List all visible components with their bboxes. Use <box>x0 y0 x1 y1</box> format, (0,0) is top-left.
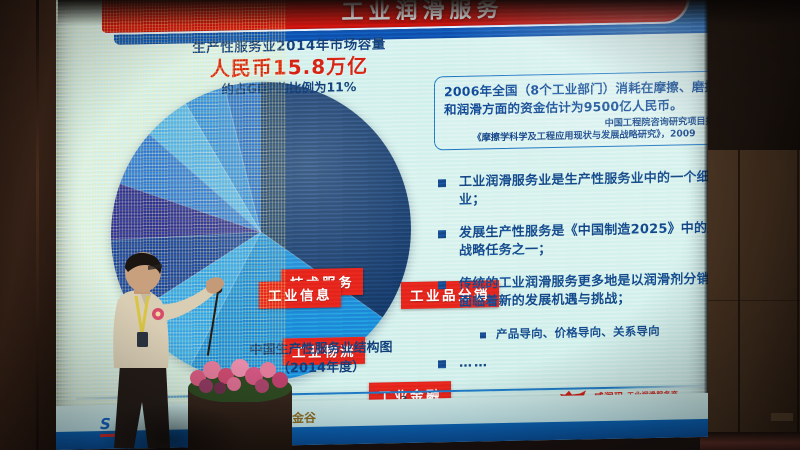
bullet-item: 传统的工业润滑服务更多地是以润滑剂分销为主面临着新的发展机遇与挑战； <box>438 270 708 313</box>
floor-strip <box>700 432 800 450</box>
citation-line1: 中国工程院咨询研究项目报告 <box>605 115 708 128</box>
bullet-list: 工业润滑服务业是生产性服务业中的一个细分行业； 发展生产性服务是《中国制造202… <box>438 168 708 388</box>
headline-line2: 人民币15.8万亿 <box>164 54 414 83</box>
info-box-citation: 中国工程院咨询研究项目报告 《摩擦学科学及工程应用现状与发展战略研究》，2009 <box>444 115 708 145</box>
right-wall-panels <box>704 150 800 435</box>
bullet-text: 发展生产性服务是《中国制造2025》中的八大战略任务之一； <box>459 219 708 262</box>
bullet-square-icon <box>438 179 446 187</box>
bullet-square-icon <box>480 332 486 338</box>
info-box-text: 2006年全国（8个工业部门）消耗在摩擦、磨损和润滑方面的资金估计为9500亿人… <box>444 78 708 119</box>
bullet-sub-item: 产品导向、价格导向、关系导向 <box>480 321 708 343</box>
headline-block: 生产性服务业2014年市场容量 人民币15.8万亿 约占GDP的比例为11% <box>164 37 414 98</box>
bullet-text: 传统的工业润滑服务更多地是以润滑剂分销为主面临着新的发展机遇与挑战； <box>459 270 708 313</box>
citation-line2: 《摩擦学科学及工程应用现状与发展战略研究》，2009 <box>444 128 708 146</box>
bullet-square-icon <box>438 230 446 238</box>
right-wall-upper <box>704 0 800 152</box>
bullet-item: 发展生产性服务是《中国制造2025》中的八大战略任务之一； <box>438 219 708 262</box>
photo-scene: S 嘉益 金谷 工业润滑服务 生产性服务业2014年市场容量 人民币15.8万亿… <box>0 0 800 450</box>
bullet-item: 工业润滑服务业是生产性服务业中的一个细分行业； <box>438 168 708 211</box>
bullet-item: …… <box>438 349 708 373</box>
info-box: 2006年全国（8个工业部门）消耗在摩擦、磨损和润滑方面的资金估计为9500亿人… <box>434 70 708 150</box>
bullet-sub-text: 产品导向、价格导向、关系导向 <box>496 323 660 343</box>
page-title: 工业润滑服务 <box>341 0 503 26</box>
pie-label-industrial-information: 工业信息 <box>259 280 341 309</box>
bullet-square-icon <box>438 281 446 289</box>
wall-plate <box>771 413 793 421</box>
left-wall <box>0 0 58 450</box>
bullet-text: …… <box>459 354 489 373</box>
bullet-square-icon <box>438 360 446 368</box>
bullet-text: 工业润滑服务业是生产性服务业中的一个细分行业； <box>459 168 708 211</box>
presenter <box>96 252 236 450</box>
